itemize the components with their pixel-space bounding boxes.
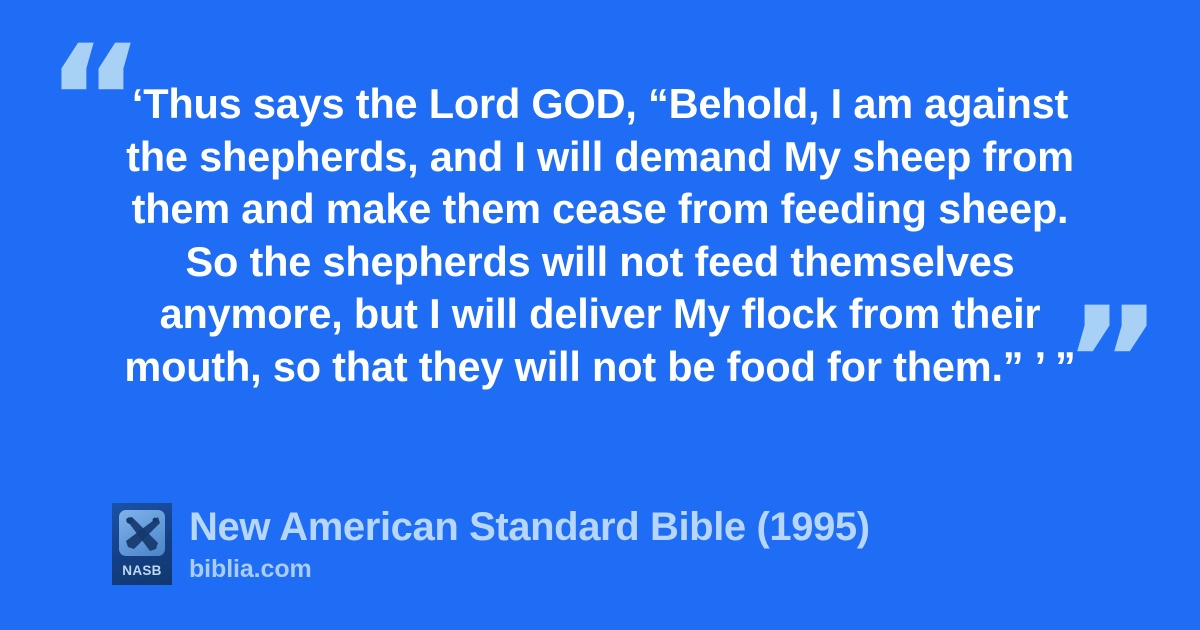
quote-line: anymore, but I will deliver My flock fro… xyxy=(100,288,1100,341)
source-website-label[interactable]: biblia.com xyxy=(189,554,870,584)
attribution-text: New American Standard Bible (1995) bibli… xyxy=(189,503,870,584)
quote-line: mouth, so that they will not be food for… xyxy=(100,341,1100,394)
quote-line: them and make them cease from feeding sh… xyxy=(100,183,1100,236)
nasb-logo-label: NASB xyxy=(112,563,172,578)
attribution-footer: NASB New American Standard Bible (1995) … xyxy=(112,503,870,585)
nasb-emblem-icon xyxy=(119,510,165,556)
quote-line: ‘Thus says the Lord GOD, “Behold, I am a… xyxy=(100,78,1100,131)
scripture-quote: ‘Thus says the Lord GOD, “Behold, I am a… xyxy=(100,78,1100,393)
quote-line: So the shepherds will not feed themselve… xyxy=(100,236,1100,289)
quote-line: the shepherds, and I will demand My shee… xyxy=(100,131,1100,184)
bible-version-title: New American Standard Bible (1995) xyxy=(189,504,870,551)
nasb-logo: NASB xyxy=(112,503,172,585)
quote-card: “ ” ‘Thus says the Lord GOD, “Behold, I … xyxy=(0,0,1200,630)
